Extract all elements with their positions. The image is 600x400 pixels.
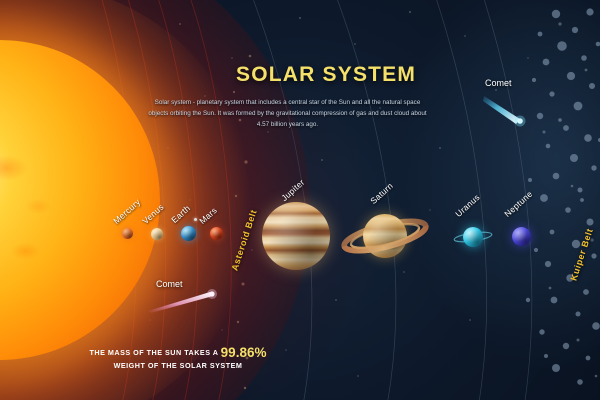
stat-suffix: WEIGHT OF THE SOLAR SYSTEM xyxy=(88,361,268,370)
sun-mass-stat: THE MASS OF THE SUN TAKES A 99.86% WEIGH… xyxy=(88,345,268,370)
comet-lower xyxy=(146,288,218,314)
stat-value: 99.86% xyxy=(221,345,267,360)
planet-shading xyxy=(151,228,163,240)
planet-venus[interactable] xyxy=(151,228,163,240)
planet-shading xyxy=(512,227,531,246)
planet-jupiter[interactable] xyxy=(262,202,330,270)
stat-line-1: THE MASS OF THE SUN TAKES A 99.86% xyxy=(88,345,268,360)
label-comet-lower: Comet xyxy=(156,279,183,289)
planet-shading xyxy=(463,227,483,247)
planet-saturn[interactable] xyxy=(363,214,407,258)
planet-shading xyxy=(210,227,223,240)
planet-uranus[interactable] xyxy=(463,227,483,247)
planet-earth[interactable] xyxy=(181,226,196,241)
intro-description: Solar system - planetary system that inc… xyxy=(145,97,430,130)
planet-mercury[interactable] xyxy=(122,228,133,239)
planet-shading xyxy=(181,226,196,241)
solar-system-infographic: Mercury Venus Earth Mars Asteroid Belt J… xyxy=(0,0,600,400)
label-comet-upper: Comet xyxy=(485,78,512,88)
comet-upper xyxy=(482,93,530,127)
planet-shading xyxy=(363,214,407,258)
planet-shading xyxy=(122,228,133,239)
planet-mars[interactable] xyxy=(210,227,223,240)
planet-shading xyxy=(262,202,330,270)
planet-neptune[interactable] xyxy=(512,227,531,246)
stat-prefix: THE MASS OF THE SUN TAKES A xyxy=(90,348,219,357)
page-title: SOLAR SYSTEM xyxy=(236,63,416,87)
